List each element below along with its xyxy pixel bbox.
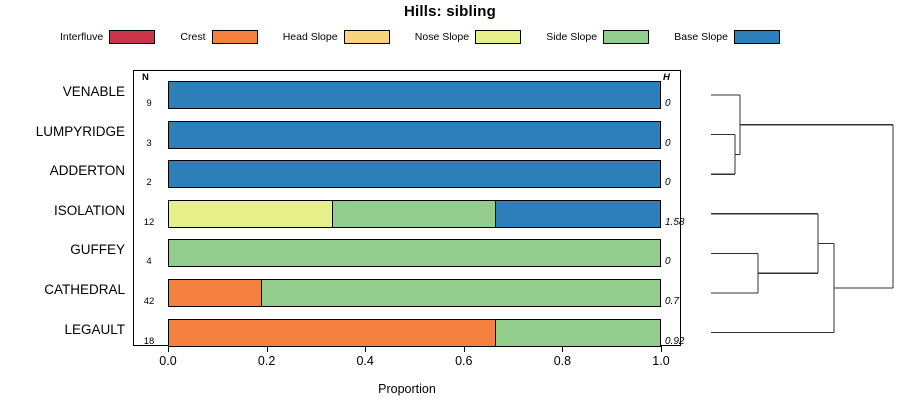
stacked-bar[interactable] bbox=[168, 200, 661, 228]
x-tick-mark bbox=[365, 346, 366, 352]
legend-label: Head Slope bbox=[283, 31, 338, 43]
legend-label: Crest bbox=[180, 31, 205, 43]
x-tick-mark bbox=[168, 346, 169, 352]
bar-segment[interactable] bbox=[169, 122, 660, 148]
row-n-value: 2 bbox=[136, 177, 162, 188]
legend-swatch bbox=[212, 30, 258, 44]
legend-swatch bbox=[475, 30, 521, 44]
row-label: GUFFEY bbox=[0, 242, 125, 257]
bar-segment[interactable] bbox=[333, 201, 497, 227]
dendrogram-svg bbox=[690, 60, 900, 360]
legend-item[interactable]: Head Slope bbox=[283, 30, 390, 44]
x-tick-label: 0.6 bbox=[444, 354, 484, 368]
stacked-bar[interactable] bbox=[168, 121, 661, 149]
legend-swatch bbox=[734, 30, 780, 44]
row-label: ADDERTON bbox=[0, 163, 125, 178]
row-n-value: 18 bbox=[136, 336, 162, 347]
x-axis-title: Proportion bbox=[133, 382, 681, 396]
bar-segment[interactable] bbox=[169, 161, 660, 187]
legend-item[interactable]: Base Slope bbox=[674, 30, 780, 44]
bar-segment[interactable] bbox=[169, 201, 333, 227]
legend-label: Nose Slope bbox=[415, 31, 469, 43]
row-n-value: 12 bbox=[136, 217, 162, 228]
row-label: LUMPYRIDGE bbox=[0, 124, 125, 139]
legend-swatch bbox=[344, 30, 390, 44]
x-tick-mark bbox=[267, 346, 268, 352]
x-tick-mark bbox=[464, 346, 465, 352]
legend-swatch bbox=[109, 30, 155, 44]
x-tick-label: 0.8 bbox=[542, 354, 582, 368]
x-tick-mark bbox=[661, 346, 662, 352]
row-n-value: 42 bbox=[136, 296, 162, 307]
legend-swatch bbox=[603, 30, 649, 44]
row-n-value: 4 bbox=[136, 256, 162, 267]
legend-item[interactable]: Crest bbox=[180, 30, 257, 44]
legend-item[interactable]: Nose Slope bbox=[415, 30, 521, 44]
stacked-bar[interactable] bbox=[168, 81, 661, 109]
legend-label: Base Slope bbox=[674, 31, 728, 43]
stacked-bar[interactable] bbox=[168, 319, 661, 347]
bar-segment[interactable] bbox=[262, 280, 660, 306]
row-label: LEGAULT bbox=[0, 322, 125, 337]
bar-segment[interactable] bbox=[169, 82, 660, 108]
chart-title: Hills: sibling bbox=[0, 3, 900, 20]
legend-label: Side Slope bbox=[546, 31, 597, 43]
stacked-bar[interactable] bbox=[168, 279, 661, 307]
x-tick-label: 0.2 bbox=[247, 354, 287, 368]
x-axis: 0.00.20.40.60.81.0 bbox=[133, 346, 681, 386]
x-tick-mark bbox=[562, 346, 563, 352]
x-tick-label: 1.0 bbox=[641, 354, 681, 368]
bar-segment[interactable] bbox=[169, 240, 660, 266]
row-label: VENABLE bbox=[0, 84, 125, 99]
bar-segment[interactable] bbox=[496, 320, 660, 346]
x-tick-label: 0.0 bbox=[148, 354, 188, 368]
row-label: CATHEDRAL bbox=[0, 282, 125, 297]
legend: InterfluveCrestHead SlopeNose SlopeSide … bbox=[60, 28, 780, 46]
bar-segment[interactable] bbox=[169, 320, 496, 346]
row-label: ISOLATION bbox=[0, 203, 125, 218]
bar-segment[interactable] bbox=[169, 280, 262, 306]
chart-root: Hills: sibling InterfluveCrestHead Slope… bbox=[0, 0, 900, 420]
row-n-value: 3 bbox=[136, 138, 162, 149]
bar-segment[interactable] bbox=[496, 201, 660, 227]
stacked-bar[interactable] bbox=[168, 239, 661, 267]
dendrogram bbox=[690, 60, 900, 360]
stacked-bar[interactable] bbox=[168, 160, 661, 188]
legend-item[interactable]: Side Slope bbox=[546, 30, 649, 44]
legend-item[interactable]: Interfluve bbox=[60, 30, 155, 44]
legend-label: Interfluve bbox=[60, 31, 103, 43]
x-tick-label: 0.4 bbox=[345, 354, 385, 368]
row-n-value: 9 bbox=[136, 98, 162, 109]
